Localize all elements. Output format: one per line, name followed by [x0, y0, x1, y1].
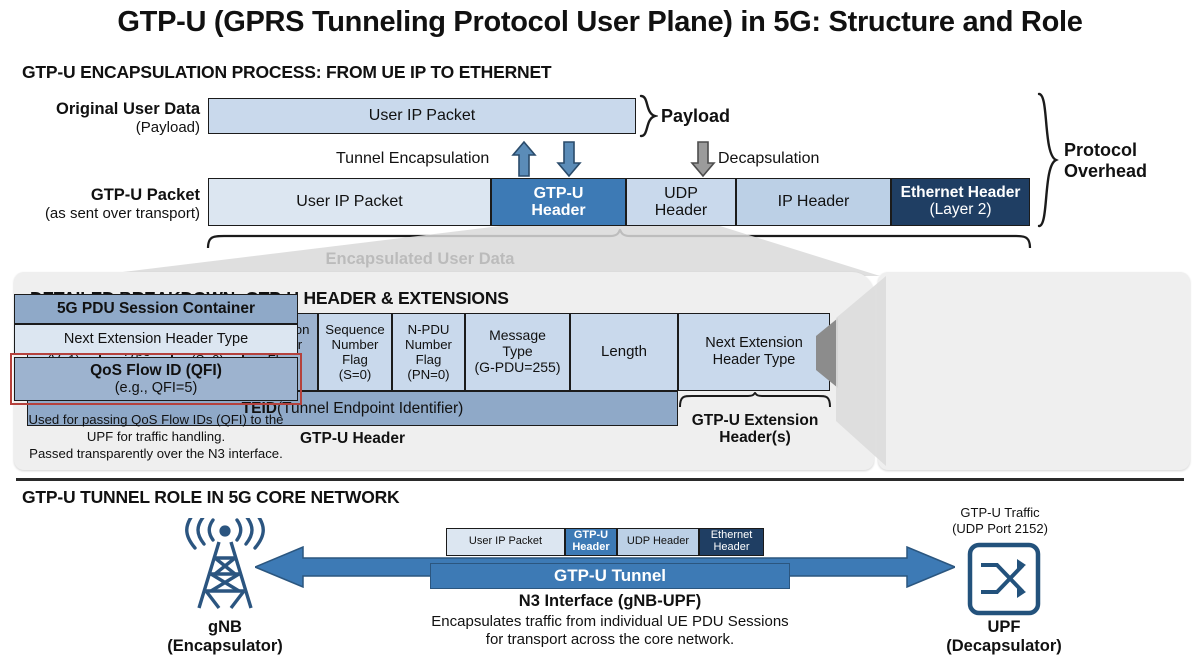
field-sequence-number-flag-line3: Flag: [342, 352, 368, 367]
arrow-down-gray-icon: [690, 140, 716, 183]
arrow-down-icon: [556, 140, 582, 183]
mini-packet-ethernet-header: Ethernet Header: [699, 528, 764, 556]
field-message-type-line1: Message: [489, 328, 546, 344]
gtpu-extension-underlabel-line2: Header(s): [672, 429, 838, 446]
field-sequence-number-flag-line1: Sequence: [325, 322, 384, 337]
packet-block-user-ip: User IP Packet: [208, 178, 491, 226]
qfi-highlight-outline: [10, 353, 302, 405]
upf-caption: UPF (Decapsulator): [924, 618, 1084, 656]
n3-interface-desc-line2: for transport across the core network.: [340, 631, 880, 649]
packet-block-ethernet-header-line1: Ethernet Header: [901, 185, 1021, 202]
original-user-ip-packet-block: User IP Packet: [208, 98, 636, 134]
page-title: GTP-U (GPRS Tunneling Protocol User Plan…: [0, 6, 1200, 39]
original-user-data-label-bold: Original User Data: [56, 100, 200, 118]
upf-caption-line1: UPF: [924, 618, 1084, 637]
pdu-container-title: 5G PDU Session Container: [14, 294, 298, 324]
packet-block-gtpu-header-line1: GTP-U: [534, 185, 584, 202]
gnb-caption-line2: (Encapsulator): [145, 637, 305, 656]
pdu-container-note-line3: Passed transparently over the N3 interfa…: [8, 446, 304, 463]
gnb-caption-line1: gNB: [145, 618, 305, 637]
field-npdu-number-flag-line3: Flag: [416, 352, 442, 367]
field-sequence-number-flag: Sequence Number Flag (S=0): [318, 313, 392, 391]
pdu-container-panel: [878, 272, 1190, 470]
n3-interface-title: N3 Interface (gNB-UPF): [340, 592, 880, 611]
packet-block-ethernet-header-line2: (Layer 2): [929, 202, 991, 219]
protocol-overhead-brace: [1035, 92, 1059, 228]
original-user-data-label: Original User Data (Payload): [20, 100, 200, 137]
packet-block-udp-header-line1: UDP: [664, 185, 698, 202]
mini-packet-gtpu-header-line2: Header: [572, 542, 609, 554]
mini-packet-udp-header: UDP Header: [617, 528, 699, 556]
payload-brace-label: Payload: [661, 106, 730, 127]
pdu-container-note: Used for passing QoS Flow IDs (QFI) to t…: [8, 412, 304, 463]
field-sequence-number-flag-line4: (S=0): [339, 367, 372, 382]
gtpu-traffic-note-line2: (UDP Port 2152): [900, 521, 1100, 537]
arrow-up-icon: [511, 140, 537, 183]
gtpu-packet-label-sub: (as sent over transport): [45, 205, 200, 222]
field-npdu-number-flag-line2: Number: [405, 337, 452, 352]
gnb-caption: gNB (Encapsulator): [145, 618, 305, 656]
packet-block-ip-header: IP Header: [736, 178, 891, 226]
mini-packet-user-ip: User IP Packet: [446, 528, 565, 556]
mini-packet-gtpu-header: GTP-U Header: [565, 528, 617, 556]
field-message-type-line2: Type: [502, 344, 532, 360]
pdu-container-callout-wedge: [836, 276, 888, 468]
field-message-type: Message Type (G-PDU=255): [465, 313, 570, 391]
upf-switch-icon: [967, 542, 1041, 616]
mini-packet-ethernet-header-line2: Header: [713, 542, 749, 554]
encapsulation-section-heading: GTP-U ENCAPSULATION PROCESS: FROM UE IP …: [22, 62, 551, 83]
packet-block-udp-header-line2: Header: [655, 202, 707, 219]
pdu-container-note-line2: UPF for traffic handling.: [8, 429, 304, 446]
gtpu-packet-label: GTP-U Packet (as sent over transport): [10, 186, 200, 223]
gtpu-packet-label-bold: GTP-U Packet: [91, 186, 200, 204]
gtpu-traffic-note-line1: GTP-U Traffic: [900, 505, 1100, 521]
original-user-data-label-sub: (Payload): [136, 119, 200, 136]
pdu-container-next-ext: Next Extension Header Type: [14, 324, 298, 354]
field-next-extension-header-type: Next Extension Header Type: [678, 313, 830, 391]
gtpu-traffic-note: GTP-U Traffic (UDP Port 2152): [900, 505, 1100, 536]
packet-block-gtpu-header: GTP-U Header: [491, 178, 626, 226]
gtpu-tunnel-bar: GTP-U Tunnel: [430, 563, 790, 589]
pdu-container-note-line1: Used for passing QoS Flow IDs (QFI) to t…: [8, 412, 304, 429]
gtpu-extension-brace: [678, 391, 832, 409]
protocol-overhead-brace-label: Protocol Overhead: [1064, 140, 1147, 182]
n3-interface-block: N3 Interface (gNB-UPF) Encapsulates traf…: [340, 592, 880, 650]
packet-block-ethernet-header: Ethernet Header (Layer 2): [891, 178, 1030, 226]
payload-brace: [638, 94, 658, 138]
tunnel-role-section-heading: GTP-U TUNNEL ROLE IN 5G CORE NETWORK: [22, 487, 399, 508]
packet-block-udp-header: UDP Header: [626, 178, 736, 226]
field-npdu-number-flag: N-PDU Number Flag (PN=0): [392, 313, 465, 391]
field-length: Length: [570, 313, 678, 391]
field-next-ext-line2: Header Type: [713, 352, 796, 369]
packet-block-gtpu-header-line2: Header: [531, 202, 585, 219]
protocol-overhead-line1: Protocol: [1064, 140, 1147, 161]
n3-interface-desc-line1: Encapsulates traffic from individual UE …: [340, 613, 880, 631]
field-message-type-line3: (G-PDU=255): [475, 360, 561, 376]
upf-caption-line2: (Decapsulator): [924, 637, 1084, 656]
gtpu-extension-underlabel: GTP-U Extension Header(s): [672, 412, 838, 446]
tunnel-encapsulation-label: Tunnel Encapsulation: [336, 150, 489, 168]
protocol-overhead-line2: Overhead: [1064, 161, 1147, 182]
n3-interface-desc: Encapsulates traffic from individual UE …: [340, 613, 880, 650]
field-next-ext-line1: Next Extension: [705, 335, 803, 352]
section-divider-top: [16, 478, 1184, 481]
field-npdu-number-flag-line4: (PN=0): [407, 367, 449, 382]
field-npdu-number-flag-line1: N-PDU: [408, 322, 450, 337]
decapsulation-label: Decapsulation: [718, 150, 819, 168]
field-sequence-number-flag-line2: Number: [332, 337, 379, 352]
gtpu-extension-underlabel-line1: GTP-U Extension: [672, 412, 838, 429]
field-teid-rest: (Tunnel Endpoint Identifier): [277, 400, 463, 418]
